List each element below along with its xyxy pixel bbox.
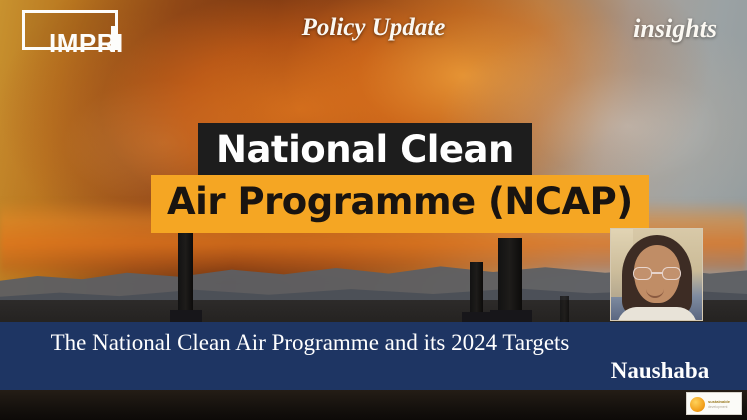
smokestack-3-base [490, 310, 532, 322]
speaker-glasses-right-lens [662, 267, 681, 280]
smokestack-1-base [170, 310, 202, 322]
smokestack-4 [560, 296, 569, 322]
bottom-dark-strip [0, 390, 747, 420]
smokestack-2-base [462, 312, 492, 322]
partner-logo-badge[interactable]: sustainable development [686, 392, 742, 415]
speaker-glasses-bridge [652, 272, 662, 274]
speaker-glasses-icon [633, 267, 681, 280]
partner-badge-line-2: development [708, 405, 727, 409]
speaker-photo [610, 228, 703, 321]
speaker-shoulders [617, 307, 697, 321]
sun-circle-icon [690, 397, 705, 412]
title-line-2: Air Programme (NCAP) [151, 175, 649, 233]
title-line-1: National Clean [198, 123, 532, 180]
speaker-glasses-left-lens [633, 267, 652, 280]
smokestack-1 [178, 218, 193, 322]
insights-brand-label: insights [633, 14, 717, 44]
slide-canvas: IMPRI Policy Update insights National Cl… [0, 0, 747, 420]
speaker-name-label: Naushaba [596, 358, 724, 384]
partner-badge-line-1: sustainable [708, 399, 730, 404]
header-bar: IMPRI Policy Update insights [0, 0, 747, 58]
banner-headline: The National Clean Air Programme and its… [30, 328, 590, 358]
